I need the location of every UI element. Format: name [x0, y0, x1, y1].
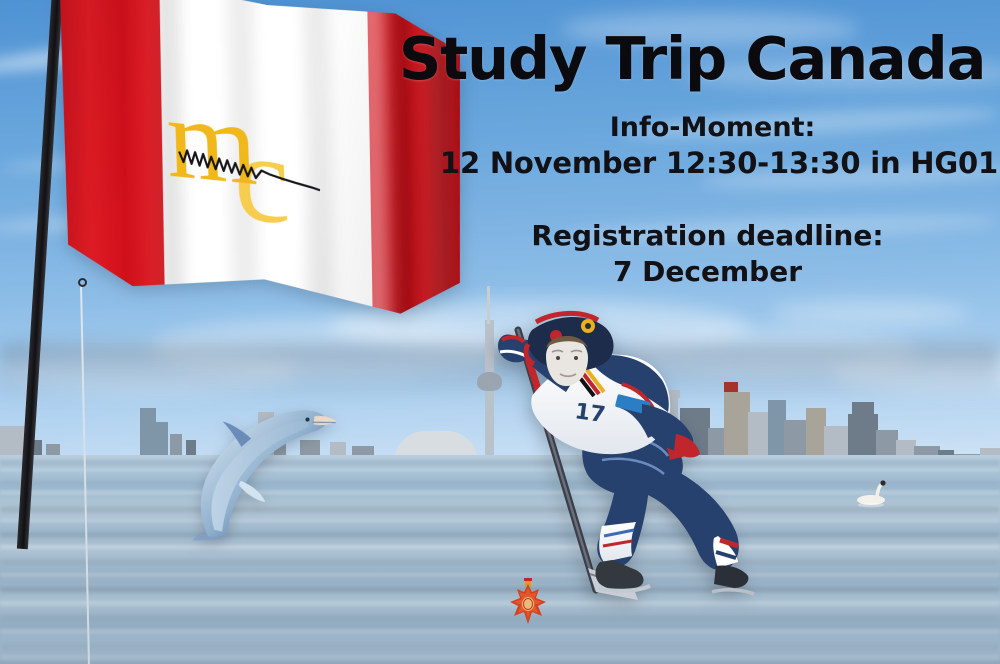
- poster-canvas: 17: [0, 0, 1000, 664]
- registration-block: Registration deadline: 7 December: [470, 218, 945, 290]
- swan: [855, 478, 897, 508]
- page-title: Study Trip Canada: [392, 24, 992, 93]
- maple-syrup-bottle: [508, 578, 548, 626]
- info-moment-block: Info-Moment: 12 November 12:30-13:30 in …: [440, 112, 985, 182]
- ice-hockey-player: 17: [470, 300, 770, 612]
- dolphin: [173, 385, 358, 541]
- info-moment-detail: 12 November 12:30-13:30 in HG01.028: [440, 144, 985, 182]
- registration-heading: Registration deadline:: [470, 218, 945, 254]
- info-moment-heading: Info-Moment:: [440, 112, 985, 144]
- svg-text:17: 17: [573, 399, 607, 428]
- registration-date: 7 December: [470, 254, 945, 290]
